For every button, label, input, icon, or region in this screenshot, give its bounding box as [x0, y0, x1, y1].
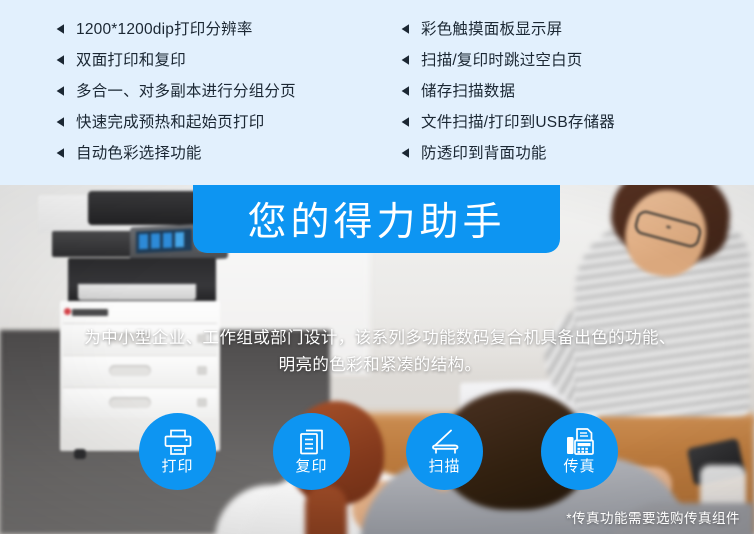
feature-label: 快速完成预热和起始页打印: [76, 107, 264, 138]
hero-description: 为中小型企业、工作组或部门设计，该系列多功能数码复合机具备出色的功能、 明亮的色…: [40, 325, 720, 379]
feature-item: 多合一、对多副本进行分组分页: [55, 76, 395, 107]
feature-item: 文件扫描/打印到USB存储器: [400, 107, 740, 138]
feature-label: 彩色触摸面板显示屏: [421, 14, 562, 45]
feature-item: 双面打印和复印: [55, 45, 395, 76]
function-circle-copy[interactable]: 复印: [273, 413, 350, 490]
function-circle-scan[interactable]: 扫描: [406, 413, 483, 490]
feature-item: 扫描/复印时跳过空白页: [400, 45, 740, 76]
function-label: 打印: [161, 458, 193, 476]
fax-machine-icon: [563, 427, 597, 457]
triangle-left-icon: [55, 54, 69, 68]
hero-description-line-2: 明亮的色彩和紧凑的结构。: [40, 352, 720, 379]
features-columns: 1200*1200dip打印分辨率 双面打印和复印 多合一、对多副本进行分组分页: [0, 14, 754, 169]
hero-section: 您的得力助手 为中小型企业、工作组或部门设计，该系列多功能数码复合机具备出色的功…: [0, 185, 754, 534]
feature-label: 储存扫描数据: [421, 76, 515, 107]
feature-label: 文件扫描/打印到USB存储器: [421, 107, 615, 138]
feature-label: 多合一、对多副本进行分组分页: [76, 76, 296, 107]
feature-item: 快速完成预热和起始页打印: [55, 107, 395, 138]
triangle-left-icon: [400, 54, 414, 68]
triangle-left-icon: [55, 147, 69, 161]
function-label: 传真: [563, 458, 595, 476]
triangle-left-icon: [400, 116, 414, 130]
triangle-left-icon: [400, 147, 414, 161]
printer-icon: [161, 427, 195, 457]
feature-label: 自动色彩选择功能: [76, 138, 202, 169]
triangle-left-icon: [400, 85, 414, 99]
function-circle-print[interactable]: 打印: [139, 413, 216, 490]
product-feature-banner: 1200*1200dip打印分辨率 双面打印和复印 多合一、对多副本进行分组分页: [0, 0, 754, 534]
feature-item: 储存扫描数据: [400, 76, 740, 107]
function-circle-fax[interactable]: 传真: [541, 413, 618, 490]
triangle-left-icon: [400, 23, 414, 37]
feature-label: 双面打印和复印: [76, 45, 186, 76]
triangle-left-icon: [55, 85, 69, 99]
features-left-column: 1200*1200dip打印分辨率 双面打印和复印 多合一、对多副本进行分组分页: [55, 14, 395, 169]
features-panel: 1200*1200dip打印分辨率 双面打印和复印 多合一、对多副本进行分组分页: [0, 0, 754, 185]
function-label: 扫描: [428, 458, 460, 476]
feature-item: 彩色触摸面板显示屏: [400, 14, 740, 45]
hero-description-line-1: 为中小型企业、工作组或部门设计，该系列多功能数码复合机具备出色的功能、: [40, 325, 720, 352]
feature-label: 1200*1200dip打印分辨率: [76, 14, 253, 45]
triangle-left-icon: [55, 23, 69, 37]
features-right-column: 彩色触摸面板显示屏 扫描/复印时跳过空白页 储存扫描数据: [400, 14, 740, 169]
function-circles: 打印 复印: [0, 413, 754, 493]
feature-item: 自动色彩选择功能: [55, 138, 395, 169]
triangle-left-icon: [55, 116, 69, 130]
copy-document-icon: [295, 427, 329, 457]
feature-item: 1200*1200dip打印分辨率: [55, 14, 395, 45]
fax-footnote: *传真功能需要选购传真组件: [566, 507, 740, 527]
feature-label: 扫描/复印时跳过空白页: [421, 45, 583, 76]
feature-item: 防透印到背面功能: [400, 138, 740, 169]
headline-banner: 您的得力助手: [193, 185, 560, 253]
headline-text: 您的得力助手: [247, 191, 505, 247]
feature-label: 防透印到背面功能: [421, 138, 547, 169]
scanner-icon: [428, 427, 462, 457]
function-label: 复印: [295, 458, 327, 476]
